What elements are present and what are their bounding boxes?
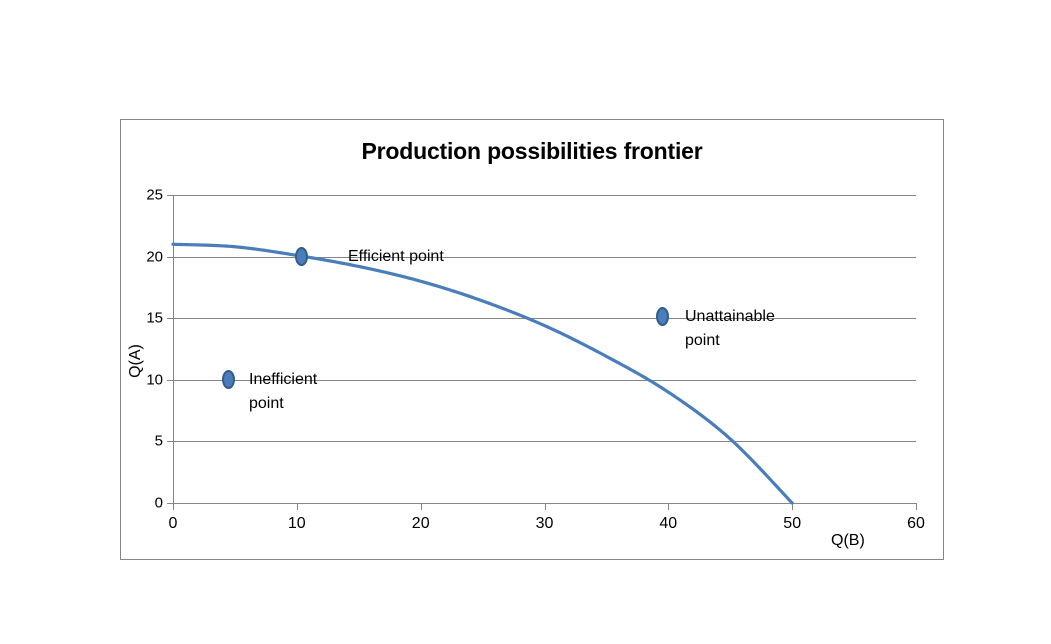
y-tick-label-15: 15 [146,310,163,327]
gridline-25: 25 [173,195,916,196]
chart-title: Production possibilities frontier [121,138,943,165]
x-tick-label-10: 10 [288,515,306,533]
y-axis-line [173,195,174,503]
marker-inefficient-point[interactable] [222,370,235,389]
gridline-5: 5 [173,441,916,442]
x-tick-mark-40 [668,503,669,510]
x-tick-mark-50 [792,503,793,510]
x-tick-label-40: 40 [659,515,677,533]
gridline-20: 20 [173,257,916,258]
annotation-efficient-point: Efficient point [348,245,444,269]
x-tick-mark-20 [421,503,422,510]
y-tick-label-20: 20 [146,248,163,265]
chart-container: Production possibilities frontier 25 20 … [120,119,944,560]
gridline-15: 15 [173,318,916,319]
y-tick-mark-15 [167,318,173,319]
y-tick-mark-20 [167,257,173,258]
marker-efficient-point[interactable] [295,247,308,266]
y-tick-label-25: 25 [146,187,163,204]
y-tick-label-10: 10 [146,371,163,388]
y-tick-label-5: 5 [155,433,163,450]
ppf-curve [173,195,916,503]
x-tick-label-50: 50 [783,515,801,533]
x-tick-mark-60 [916,503,917,510]
y-axis-title: Q(A) [127,331,145,391]
x-tick-label-0: 0 [169,515,178,533]
plot-area: 25 20 15 10 5 0 0 10 20 30 [173,195,916,503]
y-tick-mark-10 [167,380,173,381]
x-tick-mark-0 [173,503,174,510]
y-tick-mark-5 [167,441,173,442]
x-tick-mark-10 [297,503,298,510]
annotation-unattainable-point: Unattainable point [685,305,775,353]
x-axis-title: Q(B) [831,532,865,550]
x-tick-label-20: 20 [412,515,430,533]
y-tick-mark-25 [167,195,173,196]
x-tick-mark-30 [545,503,546,510]
marker-unattainable-point[interactable] [656,307,669,326]
x-tick-label-30: 30 [536,515,554,533]
annotation-inefficient-point: Inefficient point [249,368,317,416]
x-tick-label-60: 60 [907,515,925,533]
y-tick-label-0: 0 [155,495,163,512]
